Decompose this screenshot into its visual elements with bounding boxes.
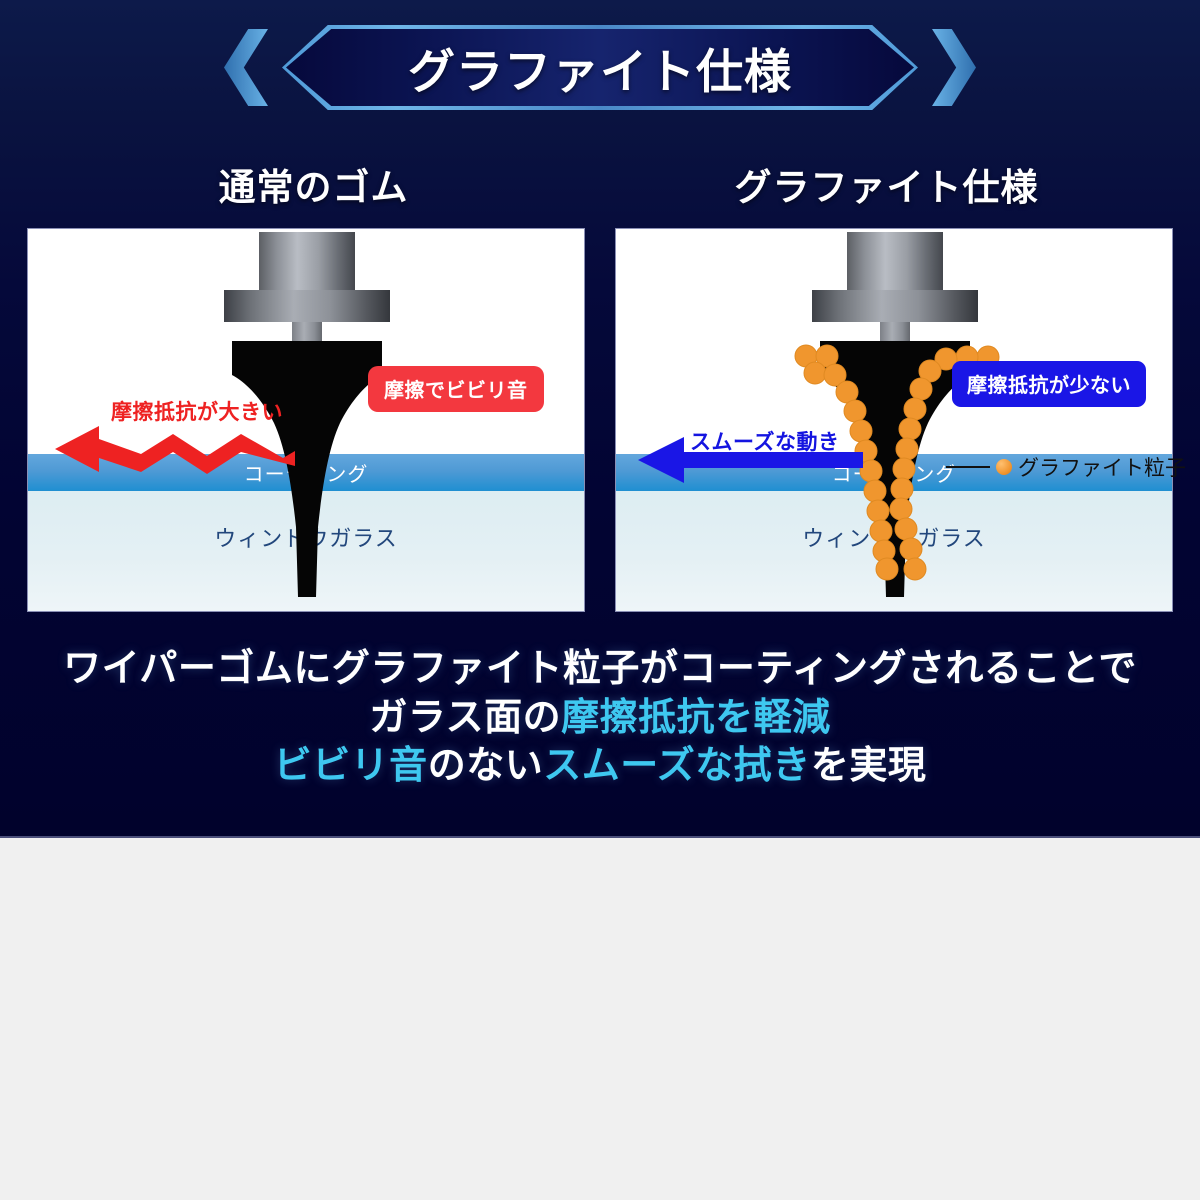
metal-holder-neck xyxy=(292,322,322,342)
badge-low-friction: 摩擦抵抗が少ない xyxy=(952,361,1146,407)
metal-holder-neck xyxy=(880,322,910,342)
friction-arrow-red-icon xyxy=(55,424,295,476)
diagram-panel-graphite: ウィンドウガラス コーティング xyxy=(615,228,1173,612)
panel-heading-normal: 通常のゴム xyxy=(27,158,600,210)
callout-graphite-particle: グラファイト粒子 xyxy=(946,452,1186,482)
description-line-3-highlight-a: ビビリ音 xyxy=(274,745,428,787)
metal-holder-top xyxy=(259,232,355,290)
description-line-2-highlight: 摩擦抵抗を軽減 xyxy=(561,697,831,739)
panel-heading-graphite: グラファイト仕様 xyxy=(600,158,1173,210)
callout-label: グラファイト粒子 xyxy=(1018,452,1186,482)
description-line-3-plain-c: を実現 xyxy=(811,745,927,787)
header-banner: グラファイト仕様 xyxy=(282,25,918,110)
rubber-blade-head xyxy=(820,341,970,371)
metal-holder-flange xyxy=(224,290,390,322)
callout-leader-line xyxy=(946,466,990,468)
description-line-3-highlight-b: スムーズな拭き xyxy=(543,745,811,787)
description-line-1: ワイパーゴムにグラファイト粒子がコーティングされることで xyxy=(0,645,1200,694)
label-friction-large: 摩擦抵抗が大きい xyxy=(92,396,302,426)
banner-chevron-right-icon xyxy=(932,29,976,106)
page-title: グラファイト仕様 xyxy=(282,25,918,110)
metal-holder-top xyxy=(847,232,943,290)
graphite-dot-icon xyxy=(996,459,1012,475)
metal-holder-flange xyxy=(812,290,978,322)
center-description: ワイパーゴムにグラファイト粒子がコーティングされることで ガラス面の摩擦抵抗を軽… xyxy=(0,645,1200,791)
description-line-2: ガラス面の摩擦抵抗を軽減 xyxy=(0,694,1200,743)
banner-chevron-left-icon xyxy=(224,29,268,106)
description-line-3-plain-b: のない xyxy=(428,745,544,787)
bottom-light-section: グラファイト粒子 グラファイト（黒鉛）と呼ばれる炭素の結晶からなる六角形の層状構… xyxy=(0,838,1200,1200)
top-dark-section: グラファイト仕様 通常のゴム グラファイト仕様 ウィンドウガラス コーティング xyxy=(0,0,1200,838)
description-line-3: ビビリ音のないスムーズな拭きを実現 xyxy=(0,742,1200,791)
badge-chatter-noise: 摩擦でビビリ音 xyxy=(368,366,544,412)
smooth-arrow-blue-icon xyxy=(638,437,863,483)
description-line-2-plain: ガラス面の xyxy=(369,697,561,739)
rubber-blade-head xyxy=(232,341,382,371)
